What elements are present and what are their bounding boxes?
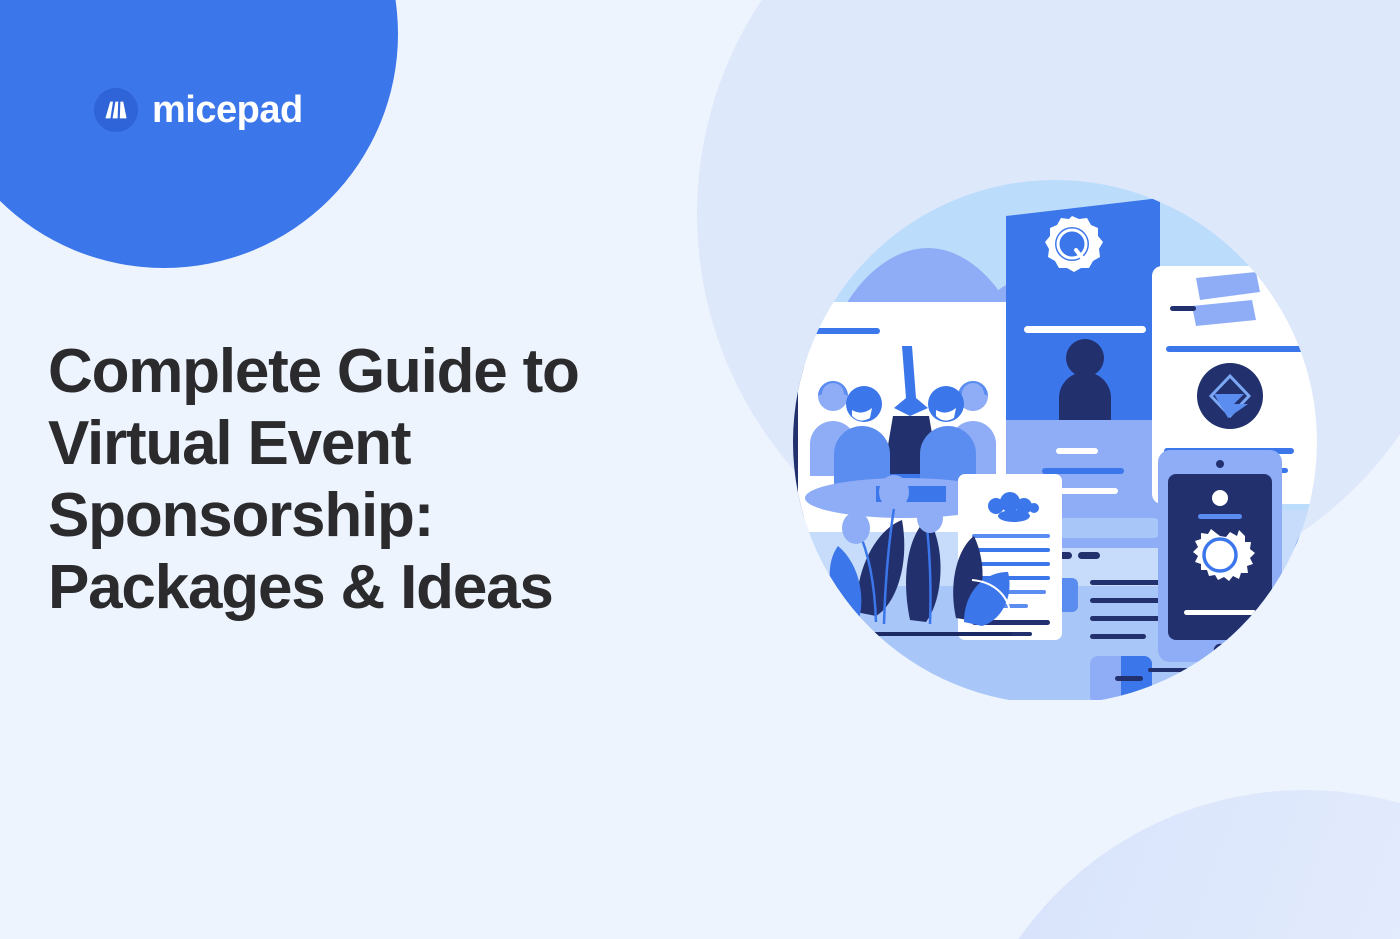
micepad-m-mark-icon [94, 88, 138, 132]
media-thumbnail [1090, 656, 1152, 700]
page-title: Complete Guide to Virtual Event Sponsors… [48, 336, 688, 624]
brand-logo[interactable]: micepad [94, 88, 303, 132]
brand-blob-shape [0, 0, 398, 268]
diamond-emblem-icon [1197, 363, 1263, 429]
brand-wordmark: micepad [152, 91, 303, 129]
settings-tablet [1148, 450, 1292, 672]
bottom-right-gradient-circle [955, 790, 1400, 939]
hero-banner: micepad Complete Guide to Virtual Event … [0, 0, 1400, 939]
virtual-event-sponsorship-illustration [760, 180, 1350, 700]
